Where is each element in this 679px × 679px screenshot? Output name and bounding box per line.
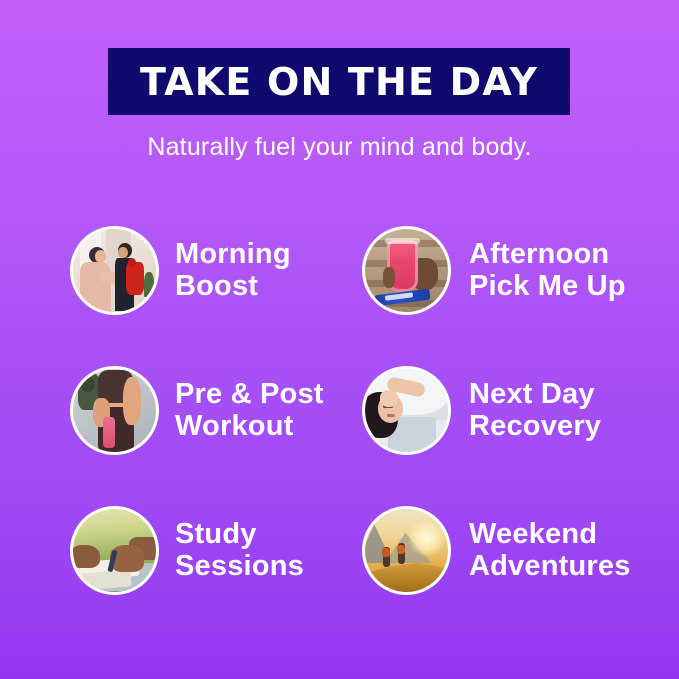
page-title: TAKE ON THE DAY [140,63,538,101]
benefit-label: Morning Boost [175,238,291,303]
workout-photo-art [73,369,156,452]
hike-photo-art [365,509,448,592]
drink-photo-art [365,229,448,312]
benefit-grid: Morning Boost Afternoon Pick Me Up [0,200,679,620]
recovery-photo-art [365,369,448,452]
pink-drink-in-mason-jar-icon [362,226,451,315]
hands-writing-notes-icon [70,506,159,595]
mother-and-child-with-backpack-icon [70,226,159,315]
benefit-label: Weekend Adventures [469,518,631,583]
title-banner: TAKE ON THE DAY [108,48,570,115]
benefit-label: Afternoon Pick Me Up [469,238,626,303]
hikers-at-sunset-icon [362,506,451,595]
subtitle: Naturally fuel your mind and body. [0,133,679,162]
study-photo-art [73,509,156,592]
benefit-item-pre-and-post-workout: Pre & Post Workout [0,340,340,480]
morning-photo-art [73,229,156,312]
benefit-item-study-sessions: Study Sessions [0,480,340,620]
benefit-label: Pre & Post Workout [175,378,324,443]
benefit-item-weekend-adventures: Weekend Adventures [340,480,679,620]
woman-resting-in-bed-icon [362,366,451,455]
benefit-item-afternoon-pick-me-up: Afternoon Pick Me Up [340,200,679,340]
woman-with-yoga-mat-and-bottle-icon [70,366,159,455]
benefit-item-next-day-recovery: Next Day Recovery [340,340,679,480]
product-benefits-poster: TAKE ON THE DAY Naturally fuel your mind… [0,0,679,679]
benefit-item-morning-boost: Morning Boost [0,200,340,340]
benefit-label: Next Day Recovery [469,378,601,443]
benefit-label: Study Sessions [175,518,304,583]
